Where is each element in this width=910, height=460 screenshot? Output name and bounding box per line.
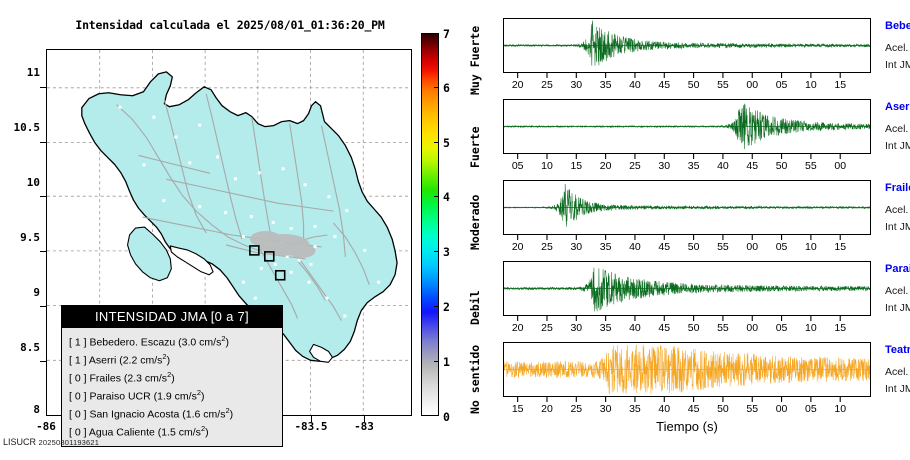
colorbar-label-2: 2 bbox=[443, 300, 455, 314]
axis-tick-label: 45 bbox=[688, 403, 700, 415]
list-item: [ 0 ] Frailes (2.3 cm/s2) bbox=[69, 368, 276, 386]
int-jma-1: Int JMA: 1 bbox=[885, 59, 910, 71]
legend-accel: (3.0 cm/s bbox=[178, 337, 221, 349]
colorbar-tick bbox=[434, 306, 439, 307]
legend-level: [ 0 ] bbox=[69, 373, 87, 385]
colorbar-tick bbox=[434, 251, 439, 252]
axis-tick-label: 50 bbox=[776, 160, 788, 172]
axis-tick-label: 20 bbox=[512, 79, 524, 91]
seismogram-xaxis-title: Tiempo (s) bbox=[503, 419, 871, 434]
int-jma-5: Int JMA: 0 bbox=[885, 383, 910, 395]
legend-accel: (2.3 cm/s bbox=[124, 373, 167, 385]
axis-tick-label: 05 bbox=[776, 322, 788, 334]
colorbar-tick bbox=[434, 87, 439, 88]
axis-tick-label: 55 bbox=[717, 79, 729, 91]
colorbar-label-0: 0 bbox=[443, 410, 455, 424]
colorbar-category-muy-fuerte: Muy Fuerte bbox=[468, 26, 482, 95]
axis-tick-label: 35 bbox=[600, 322, 612, 334]
station-name-3: Frailes bbox=[885, 182, 910, 194]
legend-close: ) bbox=[167, 355, 171, 367]
waveform-canvas bbox=[504, 262, 870, 315]
waveform-canvas bbox=[504, 19, 870, 72]
axis-tick-label: 00 bbox=[746, 241, 758, 253]
axis-tick-label: 30 bbox=[570, 322, 582, 334]
axis-tick-label: 05 bbox=[512, 160, 524, 172]
seismogram-plot-3[interactable] bbox=[503, 180, 871, 235]
axis-tick-label: 35 bbox=[600, 241, 612, 253]
axis-tick-label: 45 bbox=[746, 160, 758, 172]
legend-close: ) bbox=[171, 373, 175, 385]
legend-station: Aserri bbox=[89, 355, 116, 367]
colorbar-label-1: 1 bbox=[443, 355, 455, 369]
accel-max-4: Acel. Max. 0.0 bbox=[885, 285, 910, 297]
map-ytick-mark bbox=[40, 87, 46, 88]
axis-tick-label: 05 bbox=[805, 403, 817, 415]
map-ytick-mark bbox=[40, 196, 46, 197]
accel-max-1: Acel. Max. 0.6 bbox=[885, 42, 910, 54]
axis-tick-label: 35 bbox=[629, 403, 641, 415]
axis-tick-label: 20 bbox=[512, 322, 524, 334]
seismogram-xaxis-3: 202530354045505500051015 bbox=[503, 235, 871, 253]
axis-tick-label: 15 bbox=[834, 241, 846, 253]
map-ytick-8-5: 8.5 bbox=[0, 341, 40, 354]
axis-tick-label: 30 bbox=[600, 403, 612, 415]
map-ytick-9-5: 9.5 bbox=[0, 231, 40, 244]
list-item: [ 0 ] San Ignacio Acosta (1.6 cm/s2) bbox=[69, 404, 276, 422]
legend-station: Frailes bbox=[89, 373, 121, 385]
axis-ticks: 202530354045505500051015 bbox=[503, 235, 871, 253]
seismogram-xaxis-1: 202530354045505500051015 bbox=[503, 73, 871, 91]
axis-tick-label: 40 bbox=[658, 403, 670, 415]
axis-tick-label: 10 bbox=[805, 79, 817, 91]
axis-tick-label: 00 bbox=[834, 160, 846, 172]
axis-tick-label: 55 bbox=[717, 241, 729, 253]
watermark: LISUCR 20250801193621 bbox=[3, 437, 99, 447]
legend-panel: INTENSIDAD JMA [0 a 7] [ 1 ] Bebedero. E… bbox=[61, 305, 283, 447]
axis-tick-label: 45 bbox=[658, 241, 670, 253]
axis-tick-label: 05 bbox=[776, 241, 788, 253]
colorbar-category-no-sentido: No sentido bbox=[468, 345, 482, 414]
map-ytick-mark bbox=[40, 361, 46, 362]
watermark-code: 20250801193621 bbox=[39, 438, 100, 447]
axis-tick-label: 05 bbox=[776, 79, 788, 91]
waveform-canvas bbox=[504, 100, 870, 153]
seismogram-plot-5[interactable] bbox=[503, 342, 871, 397]
page-title: Intensidad calculada el 2025/08/01_01:36… bbox=[0, 18, 460, 32]
seismogram-plot-2[interactable] bbox=[503, 99, 871, 154]
int-jma-3: Int JMA: 0 bbox=[885, 221, 910, 233]
list-item: [ 0 ] Paraiso UCR (1.9 cm/s2) bbox=[69, 386, 276, 404]
station-name-2: Aserri bbox=[885, 101, 910, 113]
colorbar-label-3: 3 bbox=[443, 245, 455, 259]
colorbar-category-moderado: Moderado bbox=[468, 195, 482, 250]
int-jma-2: Int JMA: 1 bbox=[885, 140, 910, 152]
colorbar-category-debil: Debil bbox=[468, 290, 482, 325]
waveform-trace bbox=[504, 104, 870, 150]
axis-ticks: 202530354045505500051015 bbox=[503, 73, 871, 91]
intensity-colorbar bbox=[421, 33, 439, 416]
map-xtick-mark bbox=[311, 416, 312, 422]
axis-tick-label: 25 bbox=[570, 403, 582, 415]
seismogram-xaxis-4: 202530354045505500051015 bbox=[503, 316, 871, 334]
axis-tick-label: 10 bbox=[834, 403, 846, 415]
waveform-canvas bbox=[504, 181, 870, 234]
legend-station: Bebedero. Escazu bbox=[89, 337, 175, 349]
axis-tick-label: 15 bbox=[570, 160, 582, 172]
legend-station: Paraiso UCR bbox=[89, 391, 150, 403]
seismogram-panels: 202530354045505500051015Bebedero, Escazu… bbox=[503, 18, 903, 443]
legend-accel: (1.6 cm/s bbox=[182, 409, 225, 421]
station-name-5: Teatro Nacional bbox=[885, 344, 910, 356]
axis-tick-label: 10 bbox=[805, 241, 817, 253]
colorbar-gradient bbox=[421, 33, 439, 416]
axis-tick-label: 25 bbox=[541, 241, 553, 253]
watermark-org: LISUCR bbox=[3, 437, 36, 447]
axis-tick-label: 50 bbox=[688, 241, 700, 253]
legend-close: ) bbox=[226, 337, 230, 349]
axis-tick-label: 10 bbox=[541, 160, 553, 172]
map-ytick-10-5: 10.5 bbox=[0, 121, 40, 134]
axis-tick-label: 00 bbox=[746, 322, 758, 334]
accel-max-3: Acel. Max. 0.1 bbox=[885, 204, 910, 216]
legend-level: [ 1 ] bbox=[69, 337, 87, 349]
axis-tick-label: 25 bbox=[541, 79, 553, 91]
axis-tick-label: 20 bbox=[512, 241, 524, 253]
legend-close: ) bbox=[230, 409, 234, 421]
station-name-1: Bebedero, Escazu bbox=[885, 20, 910, 32]
legend-close: ) bbox=[205, 427, 209, 439]
waveform-trace bbox=[504, 345, 870, 395]
axis-tick-label: 20 bbox=[541, 403, 553, 415]
axis-tick-label: 30 bbox=[658, 160, 670, 172]
colorbar-label-5: 5 bbox=[443, 136, 455, 150]
axis-tick-label: 50 bbox=[688, 322, 700, 334]
waveform-canvas bbox=[504, 343, 870, 396]
axis-ticks: 051015202530354045505500 bbox=[503, 154, 871, 172]
axis-tick-label: 50 bbox=[717, 403, 729, 415]
list-item: [ 1 ] Bebedero. Escazu (3.0 cm/s2) bbox=[69, 332, 276, 350]
map-ytick-mark bbox=[40, 251, 46, 252]
accel-max-5: Acel. Max. 0.0 bbox=[885, 366, 910, 378]
legend-level: [ 1 ] bbox=[69, 355, 87, 367]
colorbar-label-7: 7 bbox=[443, 27, 455, 41]
map-ytick-9: 9 bbox=[0, 286, 40, 299]
axis-tick-label: 10 bbox=[805, 322, 817, 334]
legend-list: [ 1 ] Bebedero. Escazu (3.0 cm/s2) [ 1 ]… bbox=[62, 328, 282, 446]
legend-title: INTENSIDAD JMA [0 a 7] bbox=[62, 306, 282, 328]
map-ytick-10: 10 bbox=[0, 176, 40, 189]
axis-tick-label: 55 bbox=[717, 322, 729, 334]
waveform-trace bbox=[504, 21, 870, 66]
list-item: [ 1 ] Aserri (2.2 cm/s2) bbox=[69, 350, 276, 368]
legend-level: [ 0 ] bbox=[69, 409, 87, 421]
axis-tick-label: 20 bbox=[600, 160, 612, 172]
legend-accel: (1.5 cm/s bbox=[158, 427, 201, 439]
list-item: [ 0 ] Agua Caliente (1.5 cm/s2) bbox=[69, 422, 276, 440]
legend-close: ) bbox=[201, 391, 205, 403]
colorbar-tick bbox=[434, 196, 439, 197]
axis-tick-label: 50 bbox=[688, 79, 700, 91]
axis-tick-label: 40 bbox=[629, 322, 641, 334]
axis-ticks: 152025303540455055000510 bbox=[503, 397, 871, 415]
waveform-trace bbox=[504, 184, 870, 227]
axis-tick-label: 45 bbox=[658, 322, 670, 334]
map-ytick-mark bbox=[40, 306, 46, 307]
legend-level: [ 0 ] bbox=[69, 391, 87, 403]
legend-accel: (1.9 cm/s bbox=[154, 391, 197, 403]
axis-tick-label: 35 bbox=[600, 79, 612, 91]
axis-tick-label: 40 bbox=[629, 241, 641, 253]
seismogram-xaxis-2: 051015202530354045505500 bbox=[503, 154, 871, 172]
axis-ticks: 202530354045505500051015 bbox=[503, 316, 871, 334]
colorbar-tick bbox=[434, 361, 439, 362]
axis-tick-label: 15 bbox=[834, 79, 846, 91]
colorbar-category-fuerte: Fuerte bbox=[468, 126, 482, 168]
int-jma-4: Int JMA: 0 bbox=[885, 302, 910, 314]
colorbar-tick bbox=[434, 142, 439, 143]
colorbar-label-6: 6 bbox=[443, 81, 455, 95]
axis-tick-label: 30 bbox=[570, 79, 582, 91]
axis-tick-label: 15 bbox=[834, 322, 846, 334]
map-ytick-11: 11 bbox=[0, 66, 40, 79]
map-xtick-mark bbox=[364, 416, 365, 422]
axis-tick-label: 45 bbox=[658, 79, 670, 91]
station-name-4: Paraiso UCR bbox=[885, 263, 910, 275]
axis-tick-label: 25 bbox=[541, 322, 553, 334]
seismogram-xaxis-5: 152025303540455055000510 bbox=[503, 397, 871, 415]
seismogram-plot-1[interactable] bbox=[503, 18, 871, 73]
axis-tick-label: 25 bbox=[629, 160, 641, 172]
axis-tick-label: 00 bbox=[776, 403, 788, 415]
axis-tick-label: 15 bbox=[512, 403, 524, 415]
axis-tick-label: 00 bbox=[746, 79, 758, 91]
accel-max-2: Acel. Max. 0.6 bbox=[885, 123, 910, 135]
axis-tick-label: 55 bbox=[805, 160, 817, 172]
waveform-trace bbox=[504, 268, 870, 312]
axis-tick-label: 35 bbox=[688, 160, 700, 172]
axis-tick-label: 40 bbox=[717, 160, 729, 172]
seismogram-plot-4[interactable] bbox=[503, 261, 871, 316]
axis-tick-label: 30 bbox=[570, 241, 582, 253]
map-ytick-8: 8 bbox=[0, 403, 40, 416]
axis-tick-label: 40 bbox=[629, 79, 641, 91]
legend-accel: (2.2 cm/s bbox=[119, 355, 162, 367]
legend-station: San Ignacio Acosta bbox=[89, 409, 179, 421]
colorbar-label-4: 4 bbox=[443, 190, 455, 204]
axis-tick-label: 55 bbox=[746, 403, 758, 415]
map-ytick-mark bbox=[40, 142, 46, 143]
